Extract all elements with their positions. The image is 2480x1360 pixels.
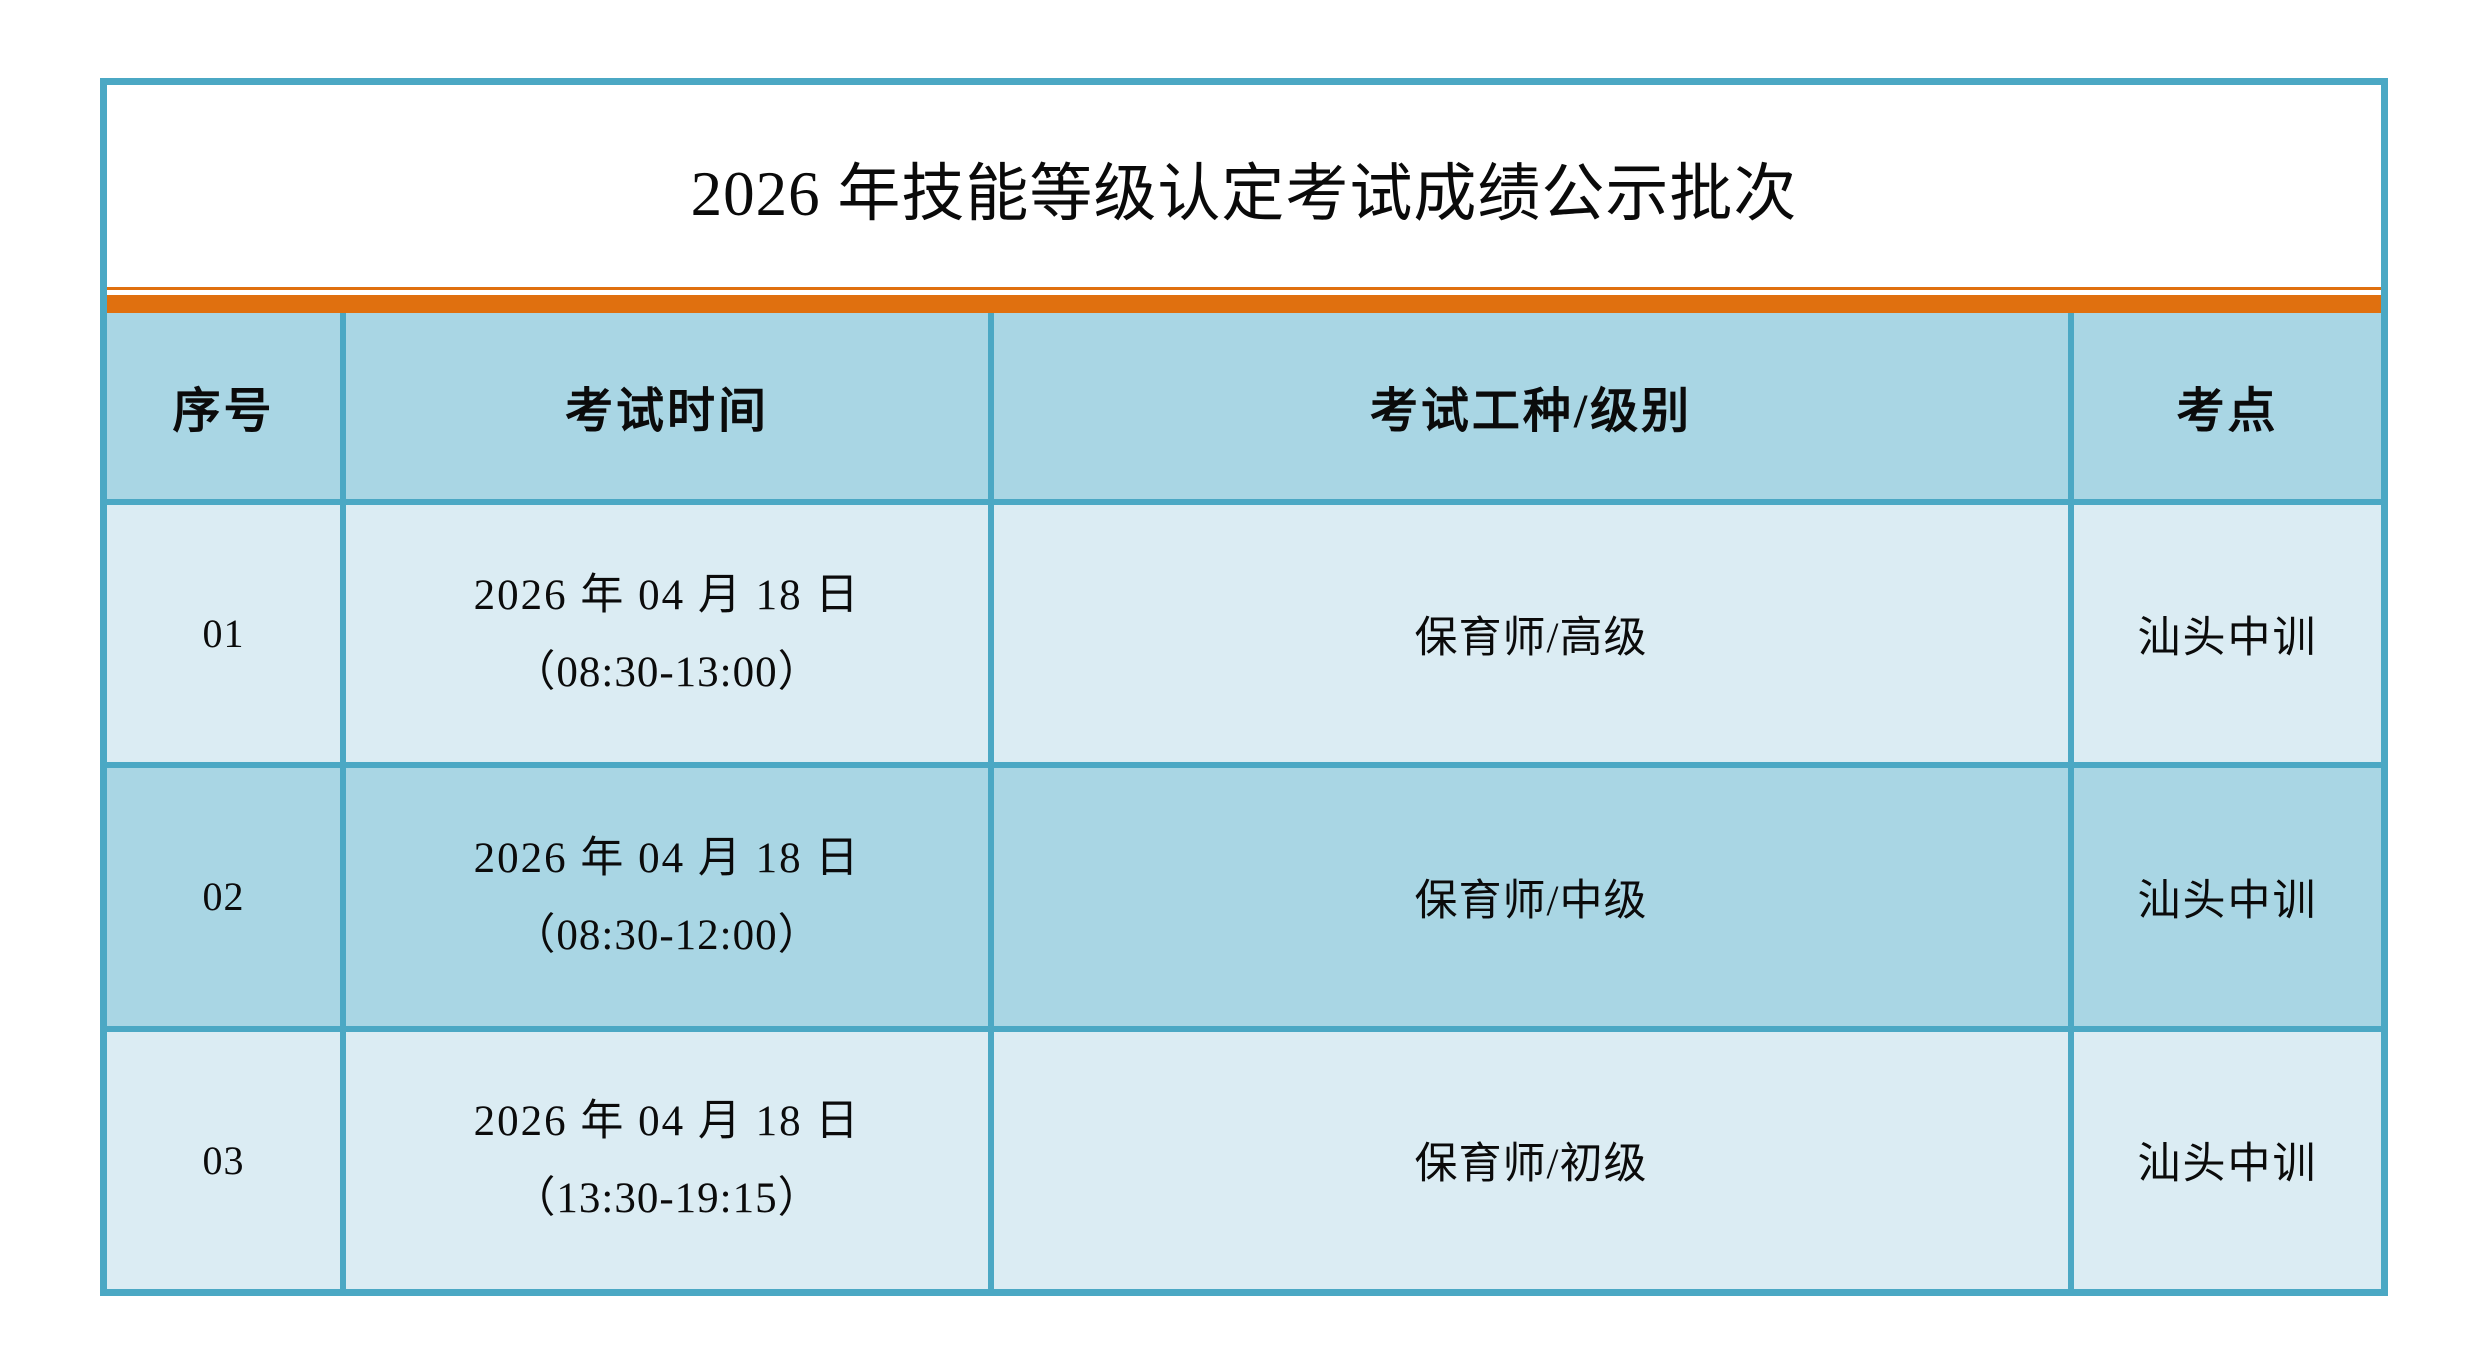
table-header-row: 序号 考试时间 考试工种/级别 考点 xyxy=(107,313,2381,499)
exam-date: 2026 年 04 月 18 日 xyxy=(474,574,861,617)
cell-trade-level: 保育师/初级 xyxy=(988,1032,2068,1289)
table-row: 02 2026 年 04 月 18 日 （08:30-12:00） 保育师/中级… xyxy=(107,762,2381,1025)
table-title-row: 2026 年技能等级认定考试成绩公示批次 xyxy=(107,85,2381,291)
cell-seq: 03 xyxy=(107,1032,340,1289)
cell-trade-level: 保育师/中级 xyxy=(988,768,2068,1025)
page-title: 2026 年技能等级认定考试成绩公示批次 xyxy=(691,143,1798,234)
accent-divider-band xyxy=(107,291,2381,313)
table-grid: 序号 考试时间 考试工种/级别 考点 01 2026 年 04 月 18 日 （… xyxy=(107,313,2381,1289)
exam-time-range: （08:30-13:00） xyxy=(512,651,821,694)
cell-exam-site: 汕头中训 xyxy=(2068,505,2381,762)
exam-date: 2026 年 04 月 18 日 xyxy=(474,837,861,880)
column-header-exam-site: 考点 xyxy=(2068,313,2381,499)
column-header-trade-level: 考试工种/级别 xyxy=(988,313,2068,499)
exam-time-stack: 2026 年 04 月 18 日 （13:30-19:15） xyxy=(352,1100,982,1220)
cell-exam-time: 2026 年 04 月 18 日 （08:30-13:00） xyxy=(340,505,988,762)
cell-seq: 01 xyxy=(107,505,340,762)
exam-time-stack: 2026 年 04 月 18 日 （08:30-12:00） xyxy=(352,837,982,957)
cell-exam-time: 2026 年 04 月 18 日 （13:30-19:15） xyxy=(340,1032,988,1289)
table-row: 03 2026 年 04 月 18 日 （13:30-19:15） 保育师/初级… xyxy=(107,1026,2381,1289)
page-root: 2026 年技能等级认定考试成绩公示批次 序号 考试时间 考试工种/级别 考点 … xyxy=(0,0,2480,1360)
column-header-exam-time: 考试时间 xyxy=(340,313,988,499)
exam-date: 2026 年 04 月 18 日 xyxy=(474,1100,861,1143)
exam-time-range: （08:30-12:00） xyxy=(512,914,821,957)
exam-time-stack: 2026 年 04 月 18 日 （08:30-13:00） xyxy=(352,574,982,694)
exam-schedule-table: 2026 年技能等级认定考试成绩公示批次 序号 考试时间 考试工种/级别 考点 … xyxy=(100,78,2388,1296)
exam-time-range: （13:30-19:15） xyxy=(512,1177,821,1220)
cell-seq: 02 xyxy=(107,768,340,1025)
cell-exam-site: 汕头中训 xyxy=(2068,1032,2381,1289)
cell-exam-site: 汕头中训 xyxy=(2068,768,2381,1025)
cell-trade-level: 保育师/高级 xyxy=(988,505,2068,762)
cell-exam-time: 2026 年 04 月 18 日 （08:30-12:00） xyxy=(340,768,988,1025)
table-row: 01 2026 年 04 月 18 日 （08:30-13:00） 保育师/高级… xyxy=(107,499,2381,762)
column-header-seq: 序号 xyxy=(107,313,340,499)
